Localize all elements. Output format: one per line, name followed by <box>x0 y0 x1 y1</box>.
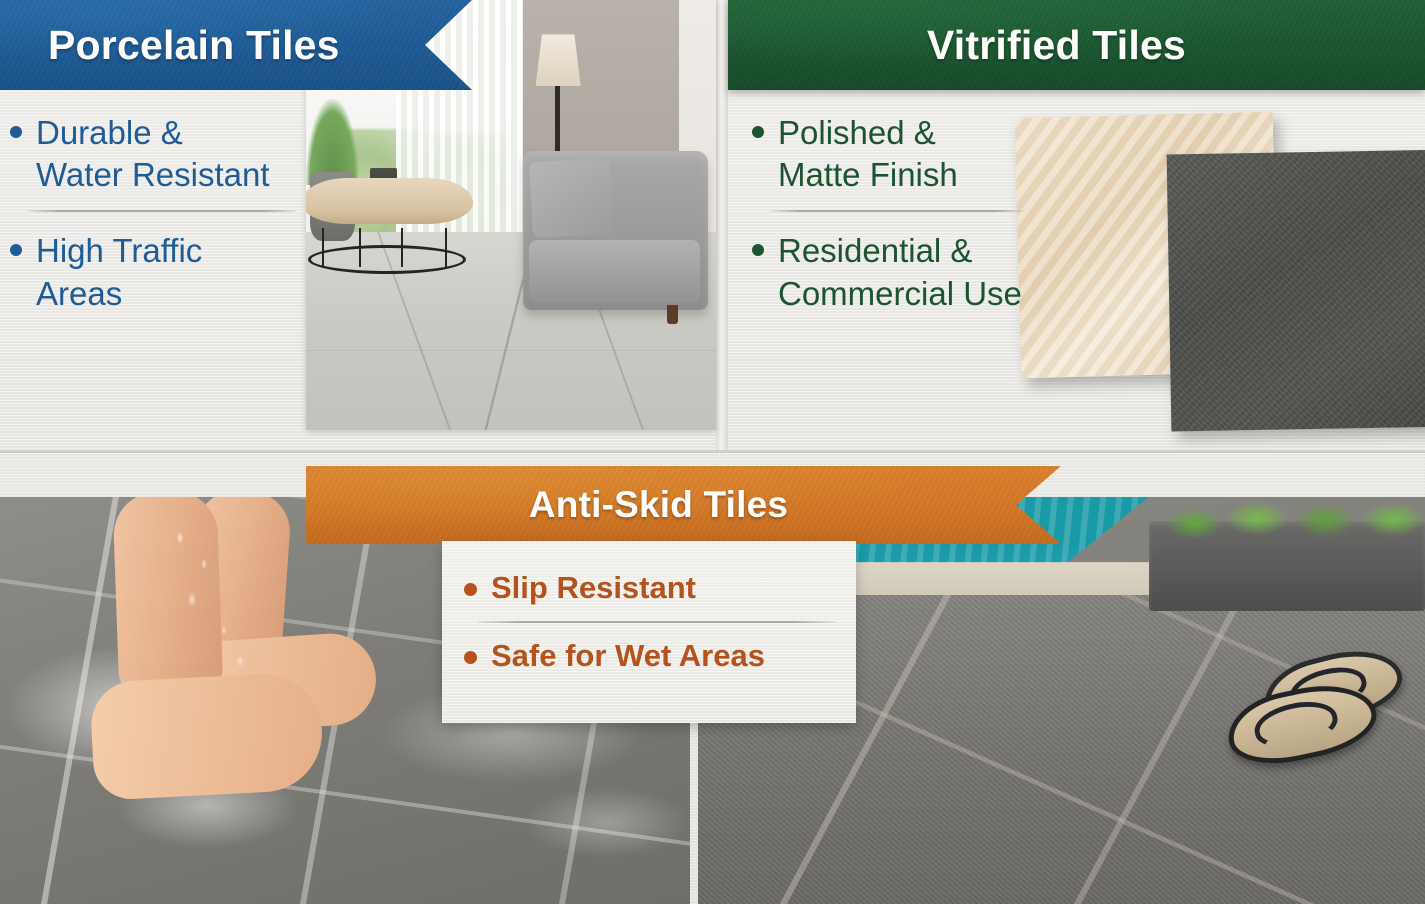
sofa-seat <box>529 240 701 304</box>
antiskid-bullet-1: Slip Resistant <box>491 571 696 605</box>
list-item: High Traffic Areas <box>10 230 296 314</box>
bullet-divider <box>28 210 296 212</box>
bullet-line: Polished & <box>778 114 936 151</box>
table-strut <box>445 228 447 267</box>
list-item: Durable & Water Resistant <box>10 112 296 196</box>
table-strut <box>322 228 324 267</box>
list-item: Residential & Commercial Use <box>752 230 1024 314</box>
table-strut <box>401 228 403 267</box>
bullet-dot-icon <box>464 651 477 664</box>
porcelain-bullet-1: Durable & Water Resistant <box>36 112 270 196</box>
antiskid-bullet-card: Slip Resistant Safe for Wet Areas <box>442 541 856 723</box>
vitrified-bullet-2: Residential & Commercial Use <box>778 230 1022 314</box>
bullet-dot-icon <box>752 126 764 138</box>
antiskid-tiles-banner: Anti-Skid Tiles <box>306 466 1061 544</box>
porcelain-bullet-list: Durable & Water Resistant High Traffic A… <box>10 112 296 315</box>
bullet-dot-icon <box>752 244 764 256</box>
water-droplets <box>120 507 320 727</box>
dark-matte-tile-sample <box>1167 149 1425 431</box>
top-section: Durable & Water Resistant High Traffic A… <box>0 0 1425 452</box>
vitrified-tiles-banner: Vitrified Tiles <box>728 0 1425 90</box>
bullet-line: Durable & <box>36 114 183 151</box>
list-item: Slip Resistant <box>464 571 836 605</box>
porcelain-bullet-2: High Traffic Areas <box>36 230 202 314</box>
sofa-cushion <box>529 158 614 239</box>
table-base <box>306 218 473 274</box>
bullet-divider <box>478 621 836 623</box>
list-item: Safe for Wet Areas <box>464 639 836 673</box>
sofa-leg <box>667 305 678 324</box>
planter-foliage <box>1163 497 1425 538</box>
bullet-line: Areas <box>36 275 122 312</box>
section-divider <box>0 450 1425 453</box>
lamp-shade <box>536 34 581 86</box>
vitrified-bullet-list: Polished & Matte Finish Residential & Co… <box>752 112 1024 315</box>
coffee-table <box>306 178 473 274</box>
lamp-pole <box>555 86 560 155</box>
porcelain-tiles-banner: Porcelain Tiles <box>0 0 472 90</box>
vitrified-banner-label: Vitrified Tiles <box>927 22 1186 69</box>
bullet-divider <box>770 210 1024 212</box>
bullet-line: Matte Finish <box>778 156 958 193</box>
antiskid-banner-label: Anti-Skid Tiles <box>529 484 788 526</box>
table-ring <box>308 245 466 274</box>
table-strut <box>359 228 361 267</box>
flip-flop-strap <box>1251 695 1342 754</box>
bullet-dot-icon <box>10 126 22 138</box>
bullet-dot-icon <box>10 244 22 256</box>
infographic-canvas: Durable & Water Resistant High Traffic A… <box>0 0 1425 904</box>
list-item: Polished & Matte Finish <box>752 112 1024 196</box>
bullet-line: Residential & <box>778 232 972 269</box>
bullet-dot-icon <box>464 583 477 596</box>
bullet-line: High Traffic <box>36 232 202 269</box>
vitrified-bullet-1: Polished & Matte Finish <box>778 112 958 196</box>
antiskid-bullet-2: Safe for Wet Areas <box>491 639 765 673</box>
grey-sofa <box>523 151 708 310</box>
porcelain-banner-label: Porcelain Tiles <box>48 22 340 69</box>
bullet-line: Water Resistant <box>36 156 270 193</box>
panel-gutter <box>716 0 728 452</box>
bullet-line: Commercial Use <box>778 275 1022 312</box>
